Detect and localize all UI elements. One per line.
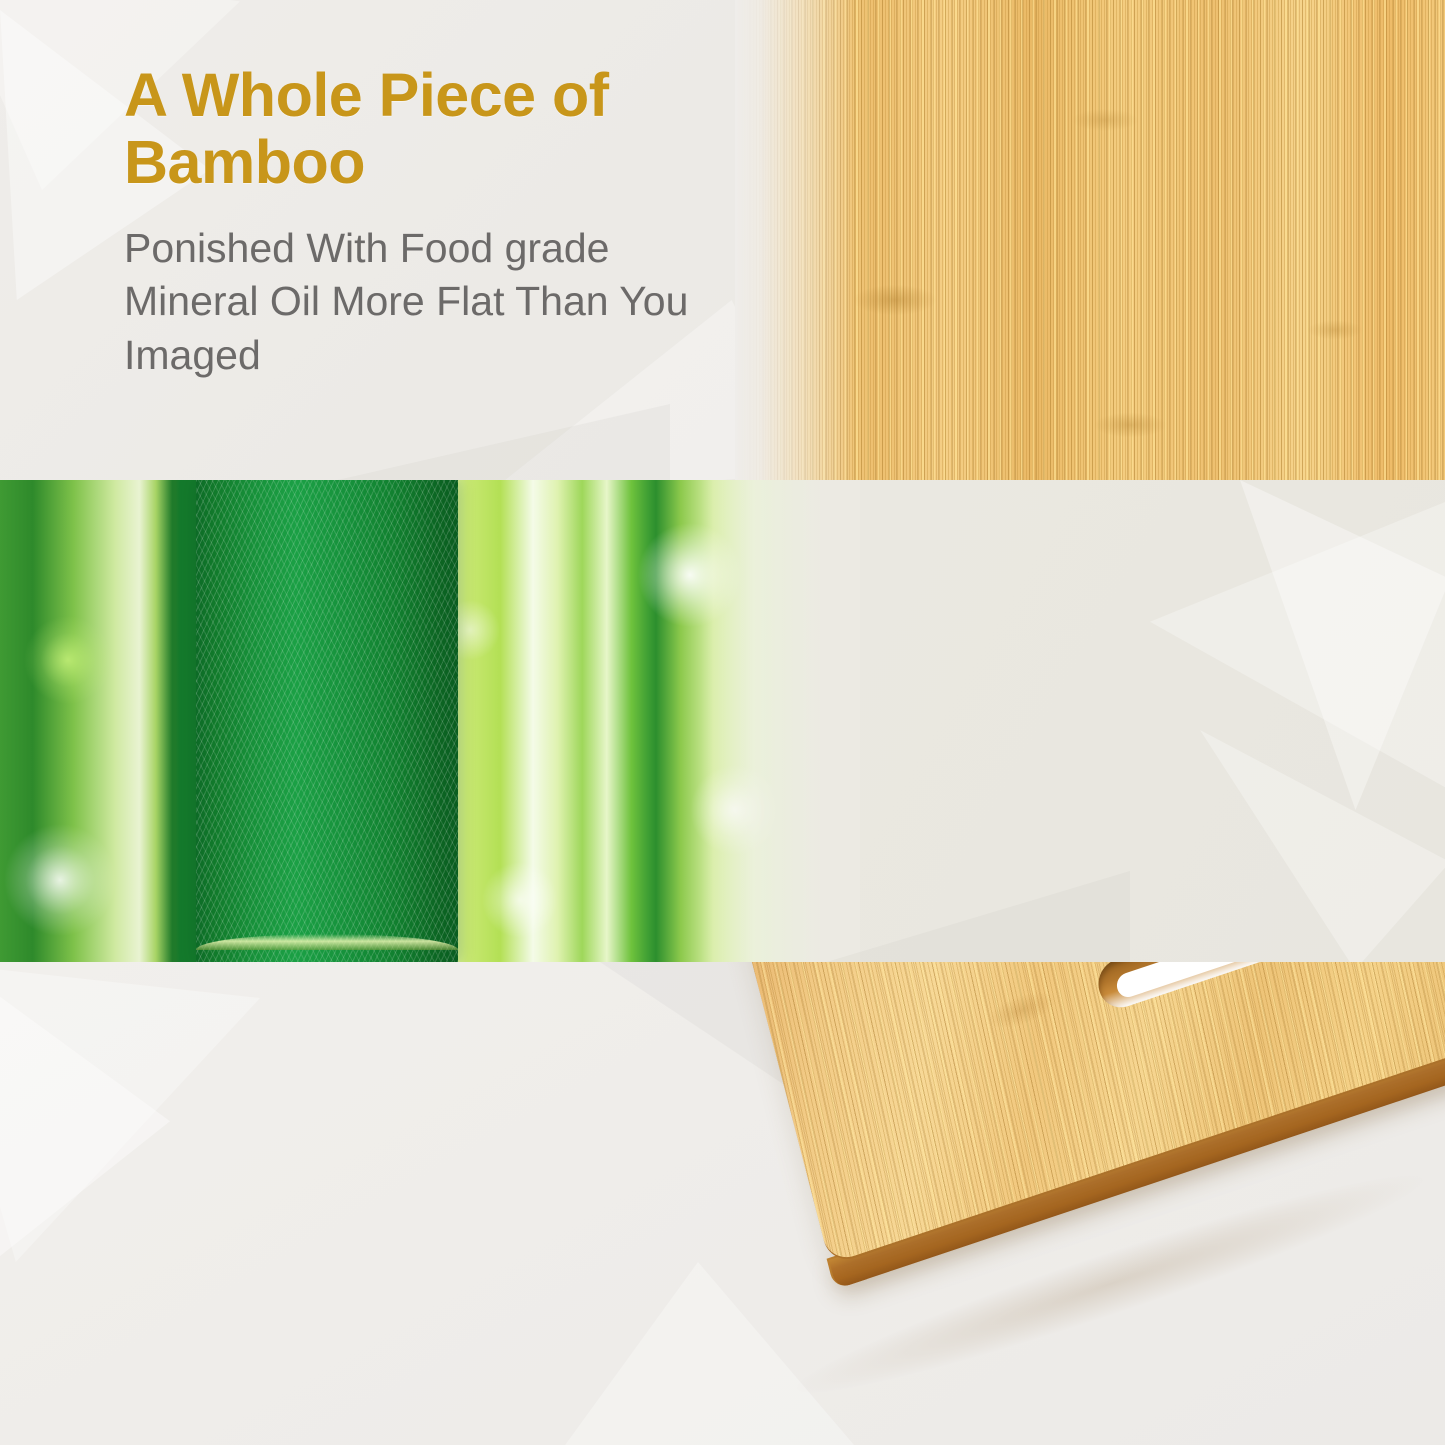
bamboo-culm-foreground	[196, 480, 458, 962]
panel-1-text-block: A Whole Piece of Bamboo Ponished With Fo…	[124, 62, 744, 382]
feature-panel-ergonomic-handle: Ergonomic Handie Cutout Easy to Take and…	[0, 962, 1445, 1445]
feature-panel-whole-piece: A Whole Piece of Bamboo Ponished With Fo…	[0, 0, 1445, 480]
wood-photo-fade-edge	[735, 0, 855, 480]
panel-1-headline: A Whole Piece of Bamboo	[124, 62, 744, 196]
product-feature-infographic: A Whole Piece of Bamboo Ponished With Fo…	[0, 0, 1445, 1445]
feature-panel-eco-friendly: Eco Friendly Moso Bamboo Bamboo-one of t…	[0, 480, 1445, 962]
panel-1-subtext: Ponished With Food grade Mineral Oil Mor…	[124, 222, 744, 382]
bamboo-cutting-board-photo	[770, 962, 1445, 1424]
green-photo-fade-edge	[700, 480, 860, 962]
